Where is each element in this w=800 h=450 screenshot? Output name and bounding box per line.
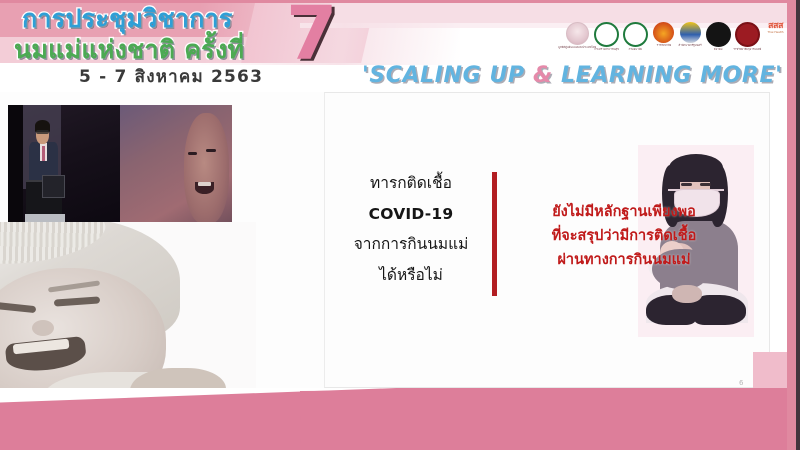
baby-teeth (198, 182, 210, 186)
bottom-band-wedge-right (300, 388, 800, 450)
thai-health-sss-logo: สสส Thai Health (764, 22, 787, 56)
red-crest-logo: ราชวิทยาลัยกุมารแพทย์ (735, 22, 760, 56)
sponsor-logo-strip: มูลนิธิศูนย์นมแม่แห่งประเทศไทย กระทรวงสา… (565, 21, 787, 57)
conference-header-banner: การประชุมวิชาการ นมแม่แห่งชาติ ครั้งที่ … (0, 3, 787, 89)
tagline-ampersand: & (533, 63, 553, 88)
logo-caption: สำนักนายกรัฐมนตรี (679, 44, 702, 47)
thai-breastfeeding-foundation-logo: มูลนิธิศูนย์นมแม่แห่งประเทศไทย (565, 22, 590, 56)
conference-tagline: 'SCALING UP & LEARNING MORE' (362, 63, 782, 89)
speaker-glasses-icon (36, 130, 48, 134)
slide-answer-text: ยังไม่มีหลักฐานเพียงพอ ที่จะสรุปว่ามีการ… (498, 200, 750, 272)
red-divider-bar (492, 172, 497, 296)
conference-date: 5 - 7 สิงหาคม 2563 (79, 67, 263, 87)
logo-caption: ราชวิทยาลัย (656, 44, 671, 47)
question-line-2: COVID-19 (336, 199, 486, 230)
slide-question-text: ทารกติดเชื้อ COVID-19 จากการกินนมแม่ ได้… (336, 168, 486, 290)
bottom-pink-band (0, 388, 800, 450)
sss-subtext: Thai Health (767, 31, 783, 34)
slide-screenshot: การประชุมวิชาการ นมแม่แห่งชาติ ครั้งที่ … (0, 0, 800, 450)
conference-edition-number: 7 (286, 3, 338, 71)
right-dark-border (796, 0, 800, 450)
red-crest-icon (735, 22, 760, 47)
tagline-suffix: LEARNING MORE' (553, 63, 783, 88)
mother-right-leg (694, 295, 746, 325)
logo-caption: กระทรวงสาธารณสุข (594, 48, 619, 51)
foundation-seal-icon (566, 22, 589, 45)
logo-caption: สมาคม (714, 48, 723, 51)
conference-title-line2: นมแม่แห่งชาติ ครั้งที่ (14, 35, 244, 65)
baby-left-eye (188, 152, 197, 155)
logo-caption: กรมอนามัย (629, 48, 642, 51)
royal-crest-orange-icon (653, 22, 674, 43)
slide-page-number: 6 (739, 379, 743, 387)
right-pink-strip (753, 352, 787, 388)
royal-college-logo: ราชวิทยาลัย (652, 22, 675, 56)
tagline-prefix: 'SCALING UP (362, 63, 533, 88)
answer-line-3: ผ่านทางการกินนมแม่ (498, 248, 750, 272)
question-line-1: ทารกติดเชื้อ (336, 168, 486, 199)
mother-right-eye (700, 183, 711, 186)
royal-thai-government-logo: สำนักนายกรัฐมนตรี (679, 22, 702, 56)
live-speaker-video[interactable] (8, 105, 232, 232)
ministry-of-public-health-logo: กระทรวงสาธารณสุข (594, 22, 619, 56)
video-left-pane (8, 105, 120, 232)
answer-line-1: ยังไม่มีหลักฐานเพียงพอ (498, 200, 750, 224)
caduceus-green-icon-2 (623, 22, 648, 47)
logo-caption: ราชวิทยาลัยกุมารแพทย์ (734, 48, 762, 51)
logo-caption: มูลนิธิศูนย์นมแม่แห่งประเทศไทย (558, 46, 596, 49)
speaker-tie (42, 146, 45, 161)
conference-title-line1: การประชุมวิชาการ (22, 4, 233, 34)
question-line-4: ได้หรือไม่ (336, 260, 486, 291)
stage-dark-edge (8, 105, 23, 232)
baby-closeup-face (184, 113, 229, 225)
mother-left-eye (681, 183, 692, 186)
laptop-screen (42, 175, 65, 199)
baby-nose (32, 320, 54, 336)
baby-in-hat-photo (0, 222, 256, 388)
answer-line-2: ที่จะสรุปว่ามีการติดเชื้อ (498, 224, 750, 248)
video-right-pane (120, 105, 232, 232)
mother-hand (672, 285, 702, 303)
caduceus-green-icon (594, 22, 619, 47)
black-seal-logo: สมาคม (706, 22, 731, 56)
department-of-health-logo: กรมอนามัย (623, 22, 648, 56)
question-line-3: จากการกินนมแม่ (336, 229, 486, 260)
black-seal-icon (706, 22, 731, 47)
garuda-icon (680, 22, 701, 43)
